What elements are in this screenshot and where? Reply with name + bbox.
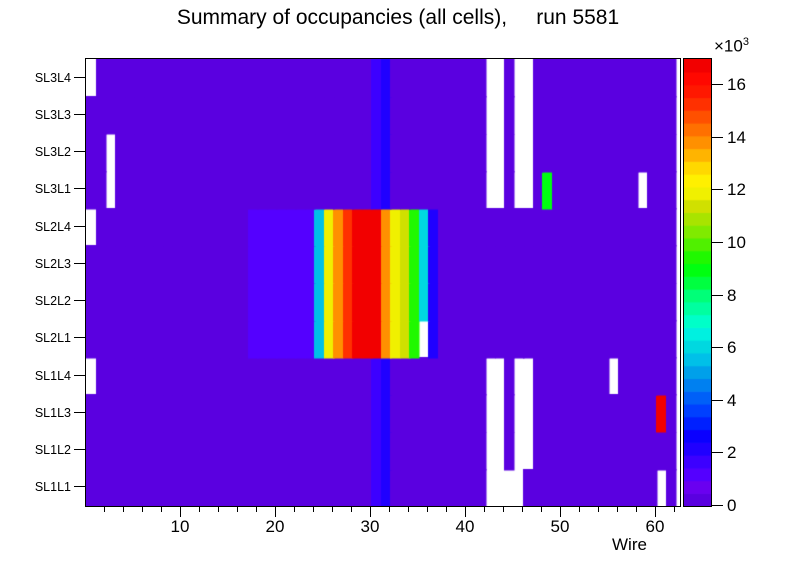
colorbar-tick-mark	[711, 242, 723, 243]
y-tick-label-sl3l1: SL3L1	[35, 182, 71, 196]
y-tick-mark	[74, 449, 85, 450]
y-tick-mark	[74, 77, 85, 78]
x-tick-minor	[484, 506, 485, 512]
x-tick-minor	[541, 506, 542, 512]
colorbar-tick-mark	[711, 452, 723, 453]
x-tick-minor	[332, 506, 333, 512]
colorbar-tick-label-12: 12	[727, 180, 746, 200]
colorbar-tick-mark	[711, 137, 723, 138]
colorbar-tick-mark	[711, 400, 723, 401]
x-tick-major	[275, 506, 276, 517]
y-tick-label-sl1l2: SL1L2	[35, 443, 71, 457]
x-tick-minor	[427, 506, 428, 512]
y-tick-mark	[74, 114, 85, 115]
x-tick-minor	[408, 506, 409, 512]
colorbar-gradient[interactable]	[683, 58, 712, 507]
x-tick-minor	[389, 506, 390, 512]
y-tick-label-sl1l4: SL1L4	[35, 369, 71, 383]
y-tick-mark	[74, 188, 85, 189]
y-tick-mark	[74, 375, 85, 376]
root-canvas: Summary of occupancies (all cells), run …	[0, 0, 796, 572]
y-tick-mark	[74, 337, 85, 338]
x-tick-major	[655, 506, 656, 517]
x-tick-label-30: 30	[361, 517, 380, 537]
x-tick-major	[465, 506, 466, 517]
x-tick-label-60: 60	[646, 517, 665, 537]
colorbar-tick-label-16: 16	[727, 75, 746, 95]
y-tick-mark	[74, 226, 85, 227]
x-tick-minor	[199, 506, 200, 512]
y-tick-label-sl3l4: SL3L4	[35, 71, 71, 85]
y-tick-label-sl1l3: SL1L3	[35, 406, 71, 420]
x-tick-label-40: 40	[456, 517, 475, 537]
x-tick-label-20: 20	[266, 517, 285, 537]
y-tick-label-sl2l2: SL2L2	[35, 294, 71, 308]
colorbar-tick-label-4: 4	[727, 391, 736, 411]
colorbar-tick-label-8: 8	[727, 286, 736, 306]
colorbar-exponent: ×103	[714, 36, 749, 57]
x-tick-major	[370, 506, 371, 517]
x-tick-minor	[617, 506, 618, 512]
x-axis: 102030405060	[85, 506, 681, 552]
colorbar-tick-mark	[711, 189, 723, 190]
y-tick-label-sl1l1: SL1L1	[35, 480, 71, 494]
x-tick-major	[180, 506, 181, 517]
x-tick-minor	[161, 506, 162, 512]
occupancy-heatmap[interactable]	[86, 59, 680, 506]
x-tick-minor	[256, 506, 257, 512]
colorbar-exponent-base: ×10	[714, 37, 743, 56]
colorbar-tick-mark	[711, 347, 723, 348]
colorbar-tick-label-6: 6	[727, 338, 736, 358]
x-tick-minor	[636, 506, 637, 512]
colorbar-tick-mark	[711, 505, 723, 506]
colorbar-exponent-power: 3	[743, 36, 749, 48]
y-tick-mark	[74, 486, 85, 487]
y-tick-label-sl3l2: SL3L2	[35, 145, 71, 159]
y-axis: SL1L1SL1L2SL1L3SL1L4SL2L1SL2L2SL2L3SL2L4…	[0, 58, 85, 507]
x-tick-minor	[674, 506, 675, 512]
x-tick-minor	[313, 506, 314, 512]
x-tick-minor	[218, 506, 219, 512]
y-tick-mark	[74, 300, 85, 301]
y-tick-label-sl3l3: SL3L3	[35, 108, 71, 122]
x-tick-major	[560, 506, 561, 517]
y-tick-label-sl2l3: SL2L3	[35, 257, 71, 271]
colorbar[interactable]: ×103 0246810121416	[683, 58, 793, 508]
colorbar-tick-label-2: 2	[727, 443, 736, 463]
x-tick-minor	[446, 506, 447, 512]
colorbar-tick-mark	[711, 295, 723, 296]
x-tick-minor	[104, 506, 105, 512]
colorbar-tick-label-0: 0	[727, 496, 736, 516]
x-tick-minor	[351, 506, 352, 512]
heatmap-plot-frame[interactable]	[85, 58, 681, 507]
x-tick-minor	[522, 506, 523, 512]
y-tick-label-sl2l4: SL2L4	[35, 220, 71, 234]
x-tick-label-10: 10	[171, 517, 190, 537]
colorbar-tick-mark	[711, 84, 723, 85]
page-title: Summary of occupancies (all cells), run …	[0, 6, 796, 30]
colorbar-tick-label-14: 14	[727, 128, 746, 148]
y-tick-label-sl2l1: SL2L1	[35, 331, 71, 345]
x-tick-minor	[503, 506, 504, 512]
x-tick-minor	[579, 506, 580, 512]
colorbar-tick-label-10: 10	[727, 233, 746, 253]
x-tick-minor	[294, 506, 295, 512]
x-tick-minor	[142, 506, 143, 512]
x-axis-title: Wire	[612, 535, 647, 555]
y-tick-mark	[74, 412, 85, 413]
x-tick-label-50: 50	[551, 517, 570, 537]
x-tick-minor	[237, 506, 238, 512]
y-tick-mark	[74, 263, 85, 264]
x-tick-minor	[598, 506, 599, 512]
y-tick-mark	[74, 151, 85, 152]
x-tick-minor	[123, 506, 124, 512]
